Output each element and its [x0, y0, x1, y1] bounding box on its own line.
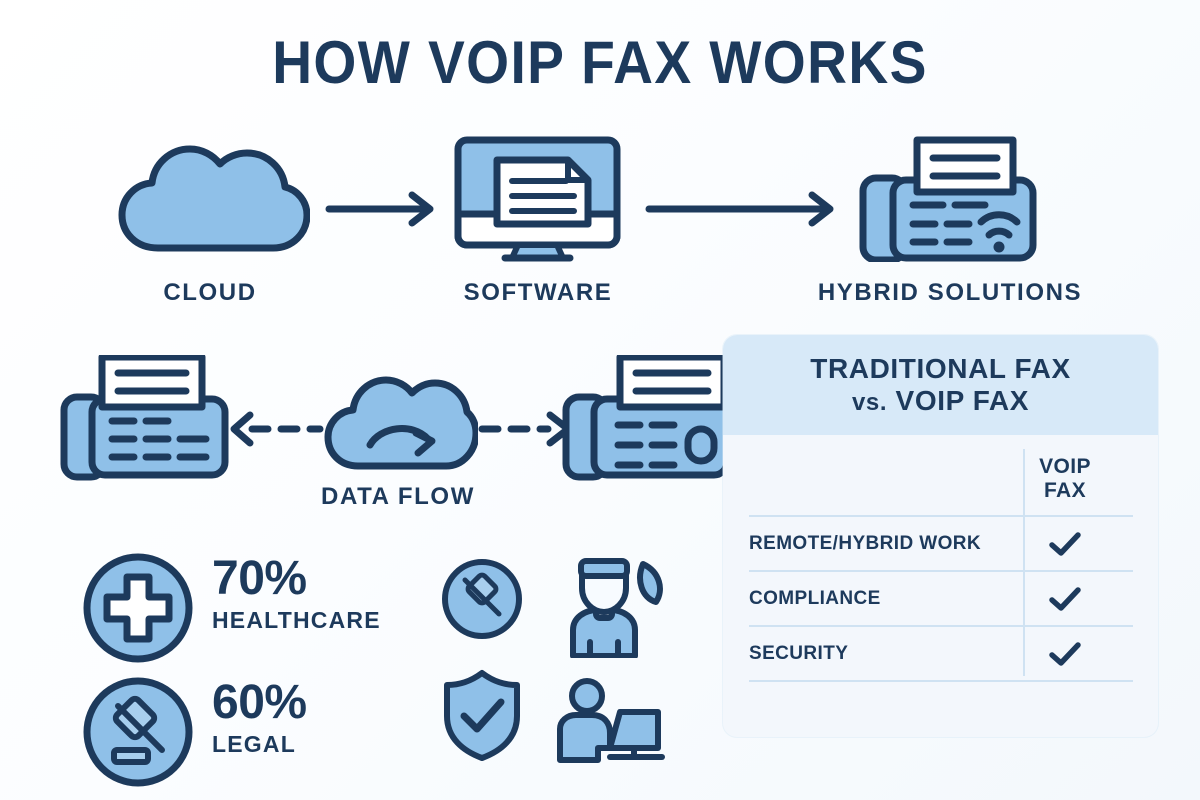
- table-header-voip-fax: VOIP FAX: [997, 447, 1133, 503]
- table-header-row: VOIP FAX: [749, 447, 1133, 515]
- person-at-computer-icon: [548, 678, 668, 766]
- comparison-table: VOIP FAX REMOTE/HYBRID WORK COMPLIANCE S…: [749, 447, 1133, 682]
- arrow-software-to-hybrid: [645, 188, 845, 230]
- voip-header-line2: FAX: [997, 479, 1133, 503]
- stat-healthcare: 70% HEALTHCARE: [212, 555, 442, 634]
- dashed-arrow-left: [228, 408, 324, 450]
- row-voip-value: [997, 586, 1133, 612]
- medical-cross-icon: [82, 552, 194, 664]
- gavel-circle-icon: [441, 558, 523, 640]
- comparison-panel: TRADITIONAL FAX vs. VOIP FAX VOIP FAX RE…: [723, 335, 1158, 737]
- table-row[interactable]: REMOTE/HYBRID WORK: [749, 515, 1133, 570]
- stat-value-legal: 60%: [212, 679, 442, 727]
- arrow-cloud-to-software: [325, 188, 445, 230]
- cloud-transfer-icon: [318, 365, 478, 480]
- comparison-heading-voip: VOIP FAX: [896, 385, 1029, 416]
- comparison-heading-line1: TRADITIONAL FAX: [810, 353, 1070, 384]
- fax-sender-icon: [560, 355, 740, 485]
- step-label-software: SOFTWARE: [388, 279, 688, 307]
- page-title: HOW VOIP FAX WORKS: [48, 28, 1152, 97]
- table-column-divider: [1023, 449, 1025, 676]
- stat-caption-legal: LEGAL: [212, 731, 442, 758]
- voip-header-line1: VOIP: [997, 455, 1133, 479]
- comparison-panel-header: TRADITIONAL FAX vs. VOIP FAX: [723, 335, 1158, 435]
- step-label-hybrid-solutions: HYBRID SOLUTIONS: [790, 279, 1110, 307]
- shield-check-icon: [441, 668, 523, 762]
- stat-legal: 60% LEGAL: [212, 679, 442, 758]
- row-feature-label: REMOTE/HYBRID WORK: [749, 533, 997, 555]
- comparison-heading-vs: vs.: [852, 389, 887, 416]
- check-icon: [1048, 531, 1082, 557]
- step-label-cloud: CLOUD: [60, 279, 360, 307]
- check-icon: [1048, 641, 1082, 667]
- row-feature-label: COMPLIANCE: [749, 588, 997, 610]
- table-row[interactable]: SECURITY: [749, 625, 1133, 682]
- table-row[interactable]: COMPLIANCE: [749, 570, 1133, 625]
- monitor-document-icon: [450, 134, 625, 262]
- infographic-canvas: HOW VOIP FAX WORKS CLOUD SOFTWARE: [0, 0, 1200, 800]
- gavel-icon: [82, 676, 194, 788]
- fax-receiver-icon: [58, 355, 238, 485]
- check-icon: [1048, 586, 1082, 612]
- comparison-heading-line2: vs. VOIP FAX: [852, 385, 1029, 417]
- cloud-icon: [110, 132, 310, 262]
- stat-value-healthcare: 70%: [212, 555, 442, 603]
- row-voip-value: [997, 641, 1133, 667]
- data-flow-label: DATA FLOW: [248, 483, 548, 511]
- fax-wifi-icon: [855, 134, 1045, 262]
- doctor-leaf-icon: [548, 552, 668, 658]
- stat-caption-healthcare: HEALTHCARE: [212, 607, 442, 634]
- row-feature-label: SECURITY: [749, 643, 997, 665]
- row-voip-value: [997, 531, 1133, 557]
